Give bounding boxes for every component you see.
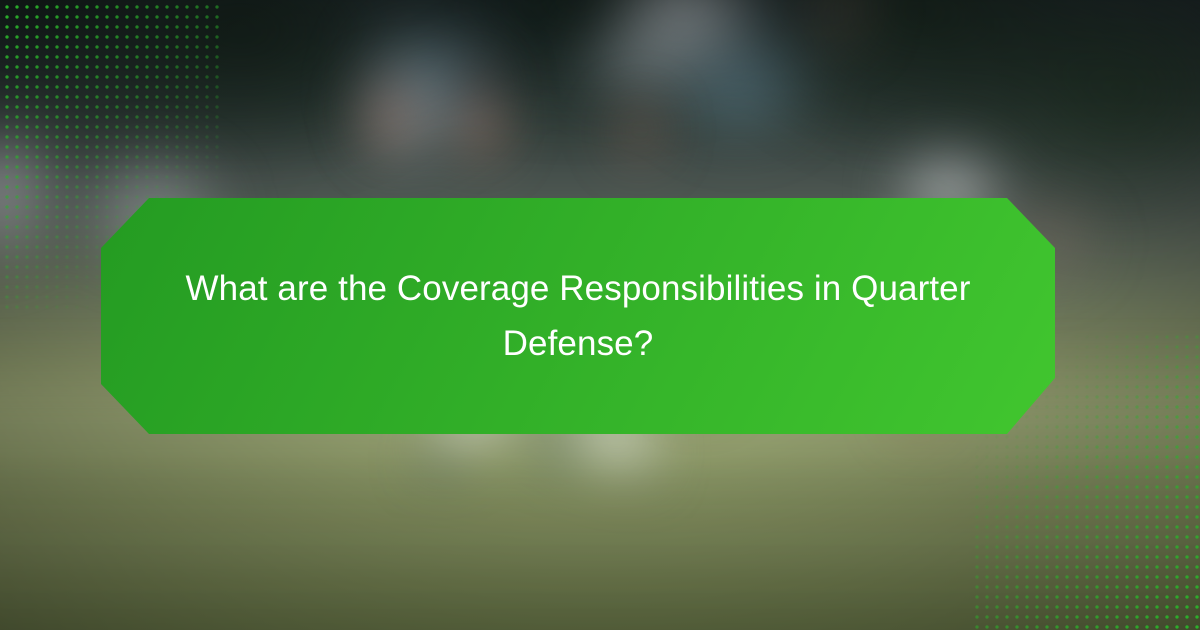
banner-card: What are the Coverage Responsibilities i…	[0, 0, 1200, 630]
page-title: What are the Coverage Responsibilities i…	[101, 261, 1055, 372]
headline-banner: What are the Coverage Responsibilities i…	[101, 198, 1055, 434]
